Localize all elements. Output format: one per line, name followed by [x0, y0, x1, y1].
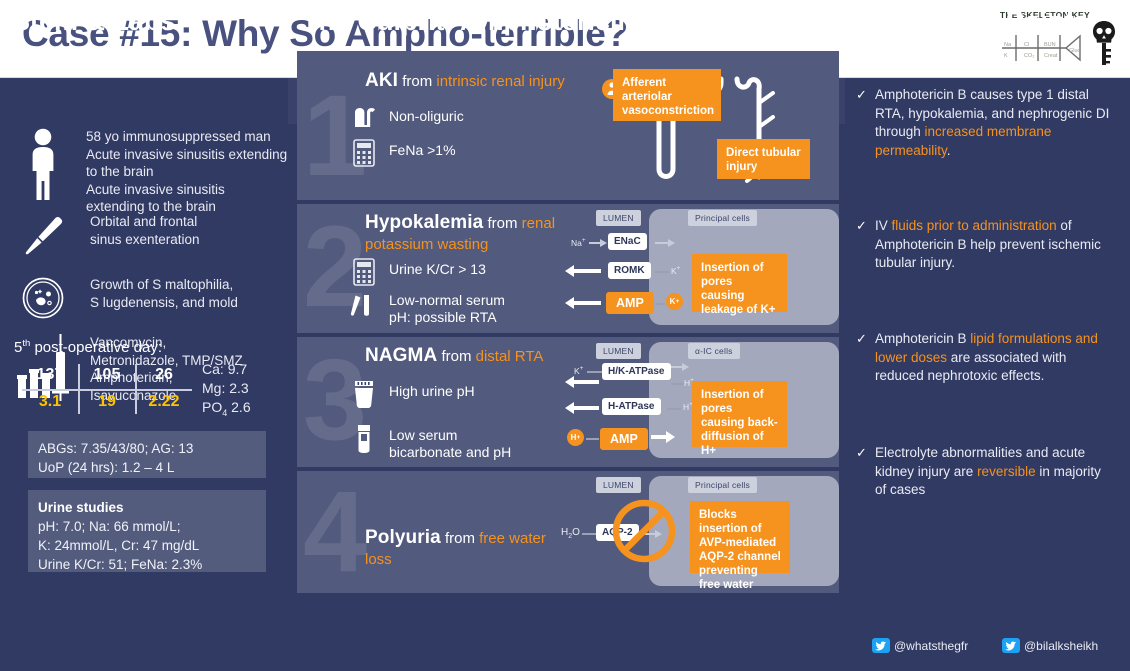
s3b2-l1: Low serum	[389, 427, 457, 443]
scalpel-icon	[14, 213, 72, 266]
stem-text-surgery: Orbital and frontal sinus exenteration	[90, 213, 298, 248]
blood-tube-icon	[349, 423, 379, 461]
tag-lumen-3: LUMEN	[596, 343, 641, 359]
channel-h-atpase: H-ATPase	[602, 398, 661, 415]
section-nagma: 3 NAGMA from distal RTA High urine pH	[297, 337, 839, 467]
lab-creatinine: 2.22	[136, 393, 192, 411]
person-icon	[14, 128, 72, 207]
arrow-hk-h	[671, 381, 683, 386]
post-op-day-label: 5th post-operative day:	[14, 338, 162, 356]
section-1-heading: AKI from intrinsic renal injury	[365, 70, 565, 92]
s2b2-l2: pH: possible RTA	[389, 309, 497, 325]
section-3-heading: NAGMA from distal RTA	[365, 345, 543, 367]
callout-h-backdiffusion: Insertion of pores causing back-diffusio…	[692, 381, 787, 447]
calculator-icon	[349, 258, 379, 290]
channel-enac: ENaC	[608, 233, 647, 250]
section-2-heading: Hypokalemia from renal potassium wasting	[365, 212, 615, 255]
svg-text:Na: Na	[1004, 42, 1012, 48]
lab-phosphate: PO4 2.6	[202, 398, 251, 423]
tag-lumen-2: LUMEN	[596, 210, 641, 226]
arrow-k-in-3	[587, 369, 602, 374]
take-home-point-4: ✓ Electrolyte abnormalities and acute ki…	[875, 444, 1115, 500]
take-home-point-1: ✓ Amphotericin B causes type 1 distal RT…	[875, 86, 1115, 160]
section-1-bullet-1: Non-oliguric	[389, 108, 464, 125]
svg-text:Creat: Creat	[1044, 53, 1058, 59]
ion-k-3: K+	[574, 365, 583, 376]
section-2-bullet-2: Low-normal serum pH: possible RTA	[389, 292, 505, 326]
svg-text:K: K	[1004, 53, 1008, 59]
thp2-p1: IV	[875, 218, 892, 233]
check-icon-1: ✓	[856, 86, 867, 105]
arrow-romk-k	[655, 269, 669, 274]
thp3-p1: Amphotericin B	[875, 331, 970, 346]
tag-principal-cells-2: Principal cells	[688, 210, 757, 226]
arrow-amp-out-2	[565, 300, 601, 305]
callout-afferent-vasoconstriction: Afferent arteriolar vasoconstriction	[613, 69, 721, 121]
ion-circle-h-3: H+	[567, 429, 584, 446]
fishbone-labs: 137 105 26 3.1 19 2.22	[22, 362, 192, 418]
lab-calcium: Ca: 9.7	[202, 360, 251, 379]
section-polyuria: 4 Polyuria from free water loss LUMEN Pr…	[297, 471, 839, 593]
section-number-4: 4	[303, 475, 363, 590]
non-oliguric-icon	[349, 105, 379, 135]
calculator-icon	[349, 139, 379, 171]
urine-cup-icon	[349, 379, 379, 413]
s3b2-l2: bicarbonate and pH	[389, 444, 511, 460]
skull-key-icon	[1091, 20, 1117, 68]
stem-text-history: 58 yo immunosuppressed man Acute invasiv…	[86, 128, 294, 216]
check-icon-4: ✓	[856, 444, 867, 463]
petri-dish-icon	[14, 276, 72, 325]
ion-na-2: Na+	[571, 237, 586, 248]
mineral-labs: Ca: 9.7 Mg: 2.3 PO4 2.6	[202, 360, 251, 423]
channel-amp-2: AMP	[606, 292, 654, 314]
lab-sodium: 137	[22, 366, 78, 384]
section-4-heading: Polyuria from free water loss	[365, 527, 570, 570]
section-2-bullet-1: Urine K/Cr > 13	[389, 261, 486, 278]
check-icon-2: ✓	[856, 217, 867, 236]
twitter-icon	[872, 638, 890, 653]
take-home-point-3: ✓ Amphotericin B lipid formulations and …	[875, 330, 1115, 386]
stem-text-micro: Growth of S maltophilia, S lugdenensis, …	[90, 276, 298, 311]
urine-line-2: K: 24mmol/L, Cr: 47 mg/dL	[38, 536, 256, 555]
handle-text-1: @whatsthegfr	[894, 639, 968, 653]
take-home-title: Take-Home Points	[855, 6, 1089, 37]
section-3-bullet-2: Low serum bicarbonate and pH	[389, 427, 511, 461]
svg-text:BUN: BUN	[1044, 42, 1056, 48]
twitter-icon	[1002, 638, 1020, 653]
thp1-p3: .	[947, 143, 951, 158]
fishbone-horizontal-rule	[22, 389, 192, 391]
arrow-romk-out	[565, 268, 601, 273]
arrow-hatpase-out	[565, 405, 599, 410]
arrow-enac-out	[655, 240, 675, 245]
prohibition-icon	[610, 497, 678, 565]
arrow-amp-out-3	[651, 434, 675, 439]
callout-direct-tubular-injury: Direct tubular injury	[717, 139, 810, 179]
urine-studies-box: Urine studies pH: 7.0; Na: 66 mmol/L; K:…	[28, 490, 266, 572]
arrow-h2o-in	[582, 531, 596, 536]
take-home-point-2: ✓ IV fluids prior to administration of A…	[875, 217, 1115, 273]
urine-line-1: pH: 7.0; Na: 66 mmol/L;	[38, 517, 256, 536]
culprit-title: The Culprit: Amphotericin	[302, 6, 634, 37]
section-number-1: 1	[303, 79, 363, 194]
section-aki: 1 AKI from intrinsic renal injury Non-ol…	[297, 51, 839, 200]
arrow-na-in	[589, 240, 607, 245]
urine-heading: Urine studies	[38, 500, 124, 515]
social-handles: @whatsthegfr @bilalksheikh	[872, 636, 1122, 658]
abg-line-2: UoP (24 hrs): 1.2 – 4 L	[38, 458, 256, 477]
handle-text-2: @bilalksheikh	[1024, 639, 1098, 653]
svg-text:Cl: Cl	[1024, 42, 1029, 48]
callout-aqp2-block: Blocks insertion of AVP-mediated AQP-2 c…	[690, 501, 790, 573]
arrow-hk-up	[671, 364, 689, 369]
lab-bun: 26	[136, 366, 192, 384]
ion-h2o: H2O	[561, 527, 580, 540]
abg-line-1: ABGs: 7.35/43/80; AG: 13	[38, 439, 256, 458]
svg-text:CO₂: CO₂	[1024, 53, 1034, 59]
tag-principal-cells-4: Principal cells	[688, 477, 757, 493]
lab-bicarb: 19	[79, 393, 135, 411]
lab-potassium: 3.1	[22, 393, 78, 411]
ion-circle-k-2: K+	[666, 293, 683, 310]
tag-lumen-4: LUMEN	[596, 477, 641, 493]
arrow-hk-out	[565, 379, 599, 384]
section-3-bullet-1: High urine pH	[389, 383, 475, 400]
arrow-amp-k	[655, 301, 665, 306]
callout-k-leakage: Insertion of pores causing leakage of K+	[692, 254, 787, 312]
urine-line-3: Urine K/Cr: 51; FeNa: 2.3%	[38, 555, 256, 574]
lab-chloride: 105	[79, 366, 135, 384]
infographic-root: Case #15: Why So Ampho-terrible? THE SKE…	[0, 0, 1130, 671]
check-icon-3: ✓	[856, 330, 867, 349]
thp4-p2: reversible	[977, 464, 1036, 479]
svg-text:Gluc: Gluc	[1069, 48, 1081, 54]
test-tubes-icon	[349, 292, 379, 326]
arrow-h-amp	[586, 436, 599, 441]
channel-amp-3: AMP	[600, 428, 648, 450]
lab-magnesium: Mg: 2.3	[202, 379, 251, 398]
channel-romk: ROMK	[608, 262, 651, 279]
tag-alpha-ic-cells: α-IC cells	[688, 343, 740, 359]
stem-labs-title: Stem & Labs	[12, 6, 176, 37]
section-1-bullet-2: FeNa >1%	[389, 142, 456, 159]
arrow-hatpase-h	[667, 406, 681, 411]
thp2-p2: fluids prior to administration	[892, 218, 1057, 233]
ion-k-romk: K+	[671, 265, 680, 276]
channel-hk-atpase: H/K-ATPase	[602, 363, 671, 380]
section-hypokalemia: 2 Hypokalemia from renal potassium wasti…	[297, 204, 839, 333]
abg-box: ABGs: 7.35/43/80; AG: 13 UoP (24 hrs): 1…	[28, 431, 266, 478]
s2b2-l1: Low-normal serum	[389, 292, 505, 308]
